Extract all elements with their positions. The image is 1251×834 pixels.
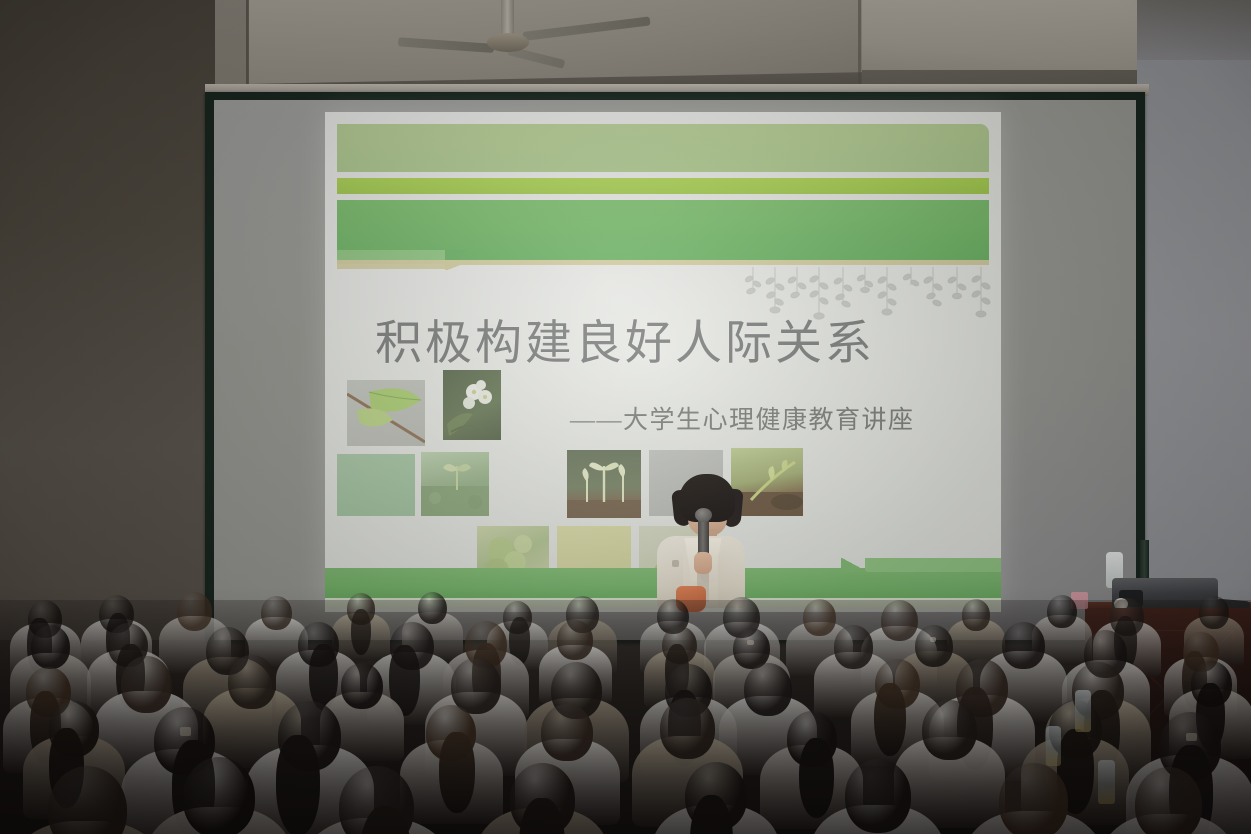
audience-member-hair xyxy=(439,732,474,813)
audience-member-head xyxy=(1199,596,1229,629)
audience-member-head xyxy=(183,757,255,834)
screen-stand-pole xyxy=(1140,540,1149,582)
ceiling-seam-right xyxy=(858,0,861,88)
wall-right xyxy=(1137,60,1251,660)
audience-member-head xyxy=(261,596,292,630)
slide-header-underline-step xyxy=(337,264,449,269)
audience-member-head xyxy=(962,599,990,631)
audience-member-head xyxy=(881,600,918,641)
water-bottle xyxy=(1098,760,1115,804)
collage-photo-three-seedlings xyxy=(567,450,641,518)
audience-member-hair xyxy=(351,609,371,655)
audience-member-head xyxy=(121,656,172,713)
speaker-badge xyxy=(672,560,679,567)
audience-member-head xyxy=(999,763,1068,834)
slide-footer-notch xyxy=(865,558,1001,572)
collage-photo-sprout-in-moss xyxy=(421,452,489,516)
water-bottle xyxy=(1075,690,1091,732)
slide-header-bar-lime xyxy=(337,178,989,194)
audience-member-head xyxy=(660,698,714,759)
audience-member-head xyxy=(451,658,501,713)
wall-left xyxy=(0,0,215,640)
audience-member-head xyxy=(177,592,212,631)
audience-member-head xyxy=(1002,622,1044,669)
audience-member-head xyxy=(834,625,873,668)
collage-photo-leaf-on-branch xyxy=(347,380,425,446)
audience-member-head xyxy=(418,592,447,625)
slide-header-bar-sage xyxy=(337,124,989,172)
audience-member-head xyxy=(541,704,592,761)
audience-member-hair xyxy=(874,683,906,757)
audience-member-hair xyxy=(276,735,320,834)
slide-subtitle: ——大学生心理健康教育讲座 xyxy=(570,400,990,436)
collage-swatch-green xyxy=(337,454,415,516)
slide-header-underline-diagonal xyxy=(445,260,471,270)
water-bottle xyxy=(1046,726,1061,766)
audience-member-head xyxy=(915,625,953,667)
speaker-hand xyxy=(694,552,712,574)
ceiling-fan-icon xyxy=(487,33,529,52)
audience-member-hair xyxy=(799,738,834,819)
audience-member-head xyxy=(803,599,836,636)
projected-slide: 积极构建良好人际关系 ——大学生心理健康教育讲座 xyxy=(325,112,1001,612)
microphone-head-icon xyxy=(695,508,712,522)
slide-footer-diagonal xyxy=(841,558,867,572)
audience-member-head xyxy=(744,663,792,716)
audience-member-head xyxy=(341,663,382,709)
lecture-hall-photo: 积极构建良好人际关系 ——大学生心理健康教育讲座 xyxy=(0,0,1251,834)
audience-member-head xyxy=(1047,595,1077,628)
hair-clip-icon xyxy=(747,640,753,645)
collage-photo-white-blossom xyxy=(443,370,501,440)
audience-member-head xyxy=(228,655,276,708)
audience-member-head xyxy=(845,759,911,832)
audience-member-head xyxy=(31,625,71,669)
audience-member-head xyxy=(1135,767,1202,834)
audience-member-head xyxy=(557,620,593,660)
slide-title: 积极构建良好人际关系 xyxy=(375,304,955,373)
hair-clip-icon xyxy=(180,727,191,735)
audience-member-head xyxy=(922,700,976,761)
wall-right-upper xyxy=(1137,0,1251,62)
hair-clip-icon xyxy=(1186,733,1197,741)
